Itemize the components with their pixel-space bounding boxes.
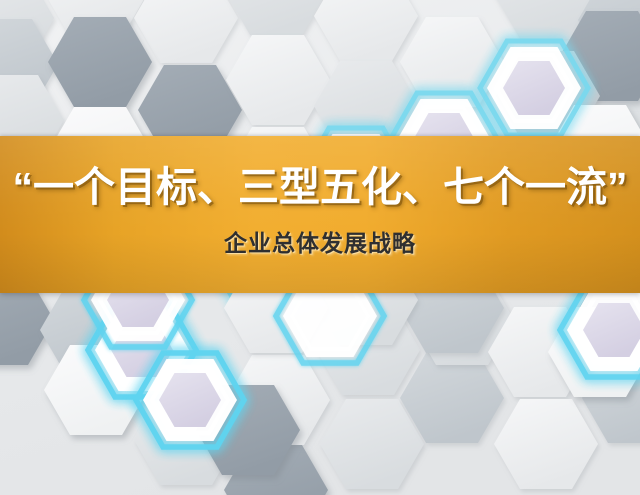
banner-subtitle: 企业总体发展战略 (0, 232, 640, 255)
slide-canvas: “一个目标、三型五化、七个一流” 企业总体发展战略 (0, 0, 640, 495)
banner-title: “一个目标、三型五化、七个一流” (0, 167, 640, 208)
title-banner: “一个目标、三型五化、七个一流” 企业总体发展战略 (0, 136, 640, 293)
